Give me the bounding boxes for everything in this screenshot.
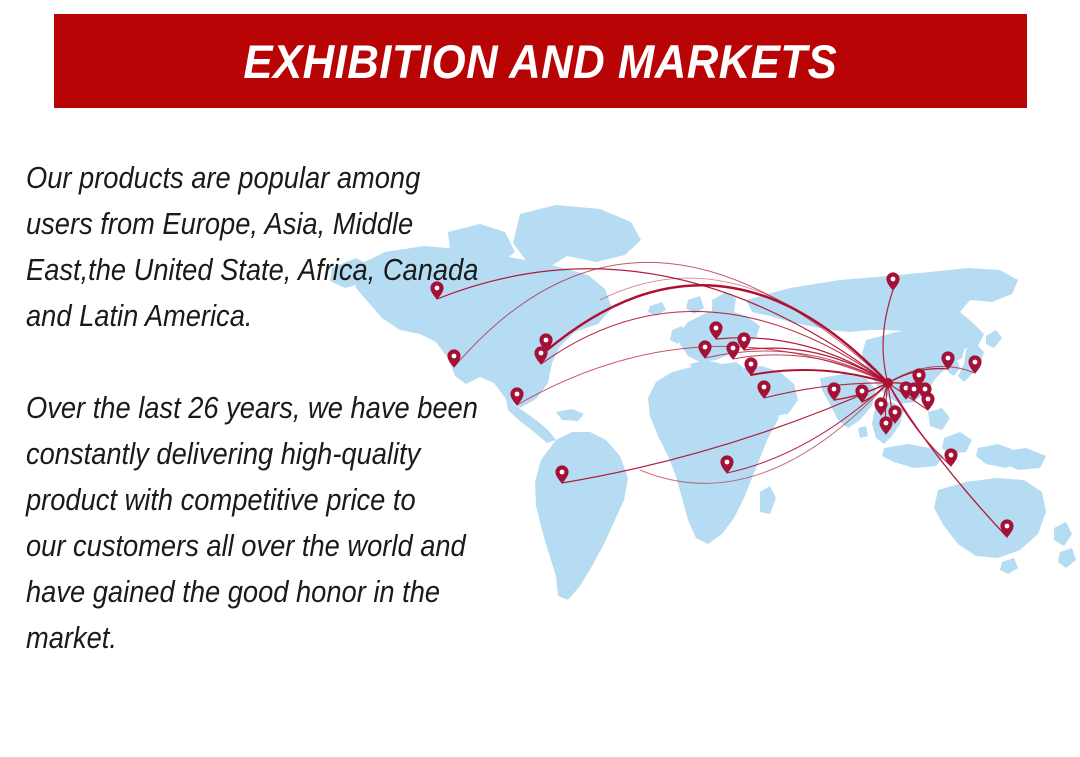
- page-title: EXHIBITION AND MARKETS: [244, 34, 838, 89]
- title-banner: EXHIBITION AND MARKETS: [54, 14, 1027, 108]
- marker-southeast-europe: [727, 342, 739, 359]
- marker-indonesia: [945, 449, 957, 466]
- slide-root: EXHIBITION AND MARKETS Our products are …: [0, 0, 1080, 757]
- body-copy: Our products are popular among users fro…: [26, 155, 606, 661]
- paragraph-markets: Our products are popular among users fro…: [26, 155, 536, 339]
- paragraph-experience: Over the last 26 years, we have been con…: [26, 385, 536, 661]
- hub-marker-east-china: [883, 378, 893, 388]
